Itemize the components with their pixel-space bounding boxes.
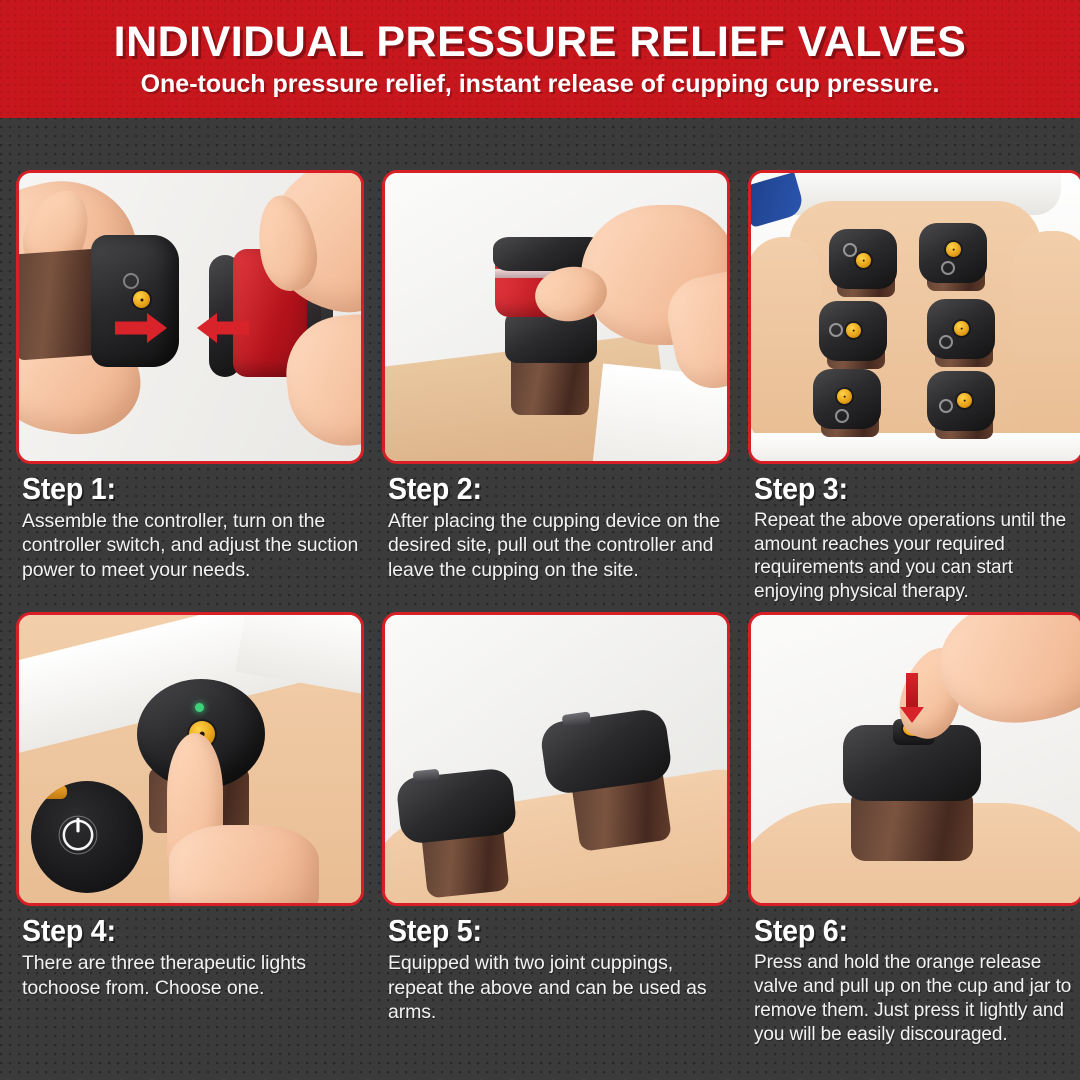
step-1-heading: Step 1: (22, 473, 333, 505)
step-1-body: Assemble the controller, turn on the con… (22, 509, 360, 583)
page-subtitle: One-touch pressure relief, instant relea… (141, 72, 940, 97)
step-card-3: Step 3: Repeat the above operations unti… (748, 170, 1080, 604)
step-6-photo (748, 612, 1080, 906)
page-title: INDIVIDUAL PRESSURE RELIEF VALVES (114, 21, 967, 64)
cup-jar (851, 793, 973, 861)
step-card-6: Step 6: Press and hold the orange releas… (748, 612, 1080, 1046)
infographic-page: INDIVIDUAL PRESSURE RELIEF VALVES One-to… (0, 0, 1080, 1080)
step-3-photo (748, 170, 1080, 464)
step-4-caption: Step 4: There are three therapeutic ligh… (16, 906, 364, 1000)
step-card-4: Step 4: There are three therapeutic ligh… (16, 612, 364, 1046)
cup-unit (819, 301, 889, 371)
cup-unit (829, 229, 899, 299)
step-5-body: Equipped with two joint cuppings, repeat… (388, 951, 726, 1025)
valve-ring-left (123, 273, 139, 289)
left-arm (748, 237, 821, 447)
step-6-heading: Step 6: (754, 915, 1054, 947)
press-arrow-down (897, 673, 927, 725)
inset-valve (39, 785, 67, 799)
cup-unit (927, 371, 997, 441)
assemble-arrow-left (197, 313, 249, 343)
power-button-inset (31, 781, 143, 893)
cup-unit (927, 299, 997, 369)
hand (169, 825, 319, 906)
step-2-heading: Step 2: (388, 473, 699, 505)
step-5-photo (382, 612, 730, 906)
step-6-body: Press and hold the orange release valve … (754, 951, 1080, 1047)
step-3-heading: Step 3: (754, 473, 1054, 505)
valve-pin (140, 298, 143, 301)
cup-unit (534, 701, 688, 859)
step-card-1: Step 1: Assemble the controller, turn on… (16, 170, 364, 604)
step-2-caption: Step 2: After placing the cupping device… (382, 464, 730, 582)
step-4-heading: Step 4: (22, 915, 333, 947)
header-banner: INDIVIDUAL PRESSURE RELIEF VALVES One-to… (0, 0, 1080, 118)
assemble-arrow-right (115, 313, 167, 343)
step-card-5: Step 5: Equipped with two joint cuppings… (382, 612, 730, 1046)
step-3-body: Repeat the above operations until the am… (754, 509, 1080, 605)
steps-grid: Step 1: Assemble the controller, turn on… (16, 170, 1064, 1047)
step-1-caption: Step 1: Assemble the controller, turn on… (16, 464, 364, 582)
step-5-caption: Step 5: Equipped with two joint cuppings… (382, 906, 730, 1024)
cup-unit (919, 223, 989, 293)
power-icon (57, 813, 99, 855)
step-6-caption: Step 6: Press and hold the orange releas… (748, 906, 1080, 1046)
step-card-2: Step 2: After placing the cupping device… (382, 170, 730, 604)
cup-collar (505, 311, 597, 363)
cup-unit (389, 759, 528, 901)
step-2-photo (382, 170, 730, 464)
right-arm (1013, 231, 1080, 445)
step-1-photo (16, 170, 364, 464)
step-3-caption: Step 3: Repeat the above operations unti… (748, 464, 1080, 604)
step-2-body: After placing the cupping device on the … (388, 509, 726, 583)
lower-sheet (751, 433, 1080, 464)
step-4-photo (16, 612, 364, 906)
step-4-body: There are three therapeutic lights tocho… (22, 951, 360, 1000)
cup-jar (511, 355, 589, 415)
cup-unit (813, 369, 883, 439)
step-5-heading: Step 5: (388, 915, 699, 947)
release-valve-left (133, 291, 150, 308)
